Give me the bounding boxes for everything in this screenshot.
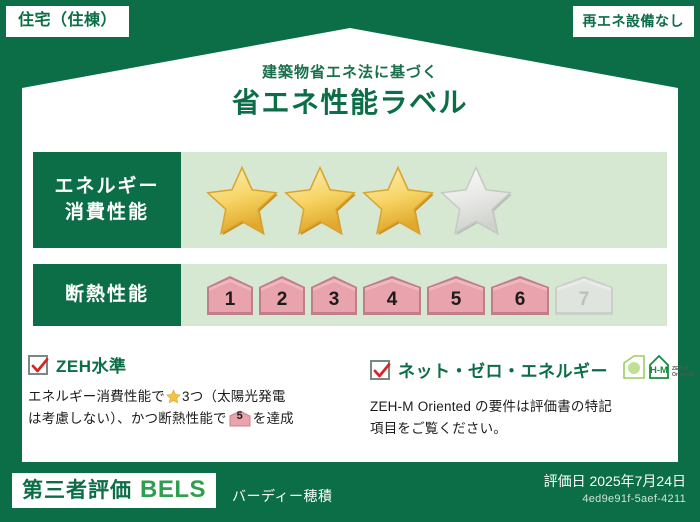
tag-building-type: 住宅（住棟）	[6, 6, 129, 37]
footer-meta: 評価日 2025年7月24日 4ed9e91f-5aef-4211	[544, 472, 686, 505]
insulation-level-marker: 6	[489, 273, 551, 317]
insulation-level-value: 1	[205, 289, 255, 311]
insulation-level-scale: 1234567	[189, 273, 615, 317]
insulation-level-marker: 3	[309, 273, 359, 317]
zeh-standard-block: ZEH水準 エネルギー消費性能で3つ（太陽光発電 は考慮しない）、かつ断熱性能で…	[28, 352, 358, 456]
insulation-level-value: 7	[553, 289, 615, 311]
info-section: ZEH水準 エネルギー消費性能で3つ（太陽光発電 は考慮しない）、かつ断熱性能で…	[0, 352, 700, 456]
net-zero-desc-line2: 項目をご覧ください。	[370, 421, 507, 436]
zeh-standard-title: ZEH水準	[56, 352, 127, 377]
insulation-level-value: 6	[489, 289, 551, 311]
net-zero-checkbox[interactable]	[370, 360, 390, 380]
zeh-m-oriented-logo: H-M ZEH-M Oriented	[620, 352, 696, 387]
star-icon-filled	[283, 164, 357, 236]
check-icon	[31, 357, 49, 375]
insulation-level-marker: 2	[257, 273, 307, 317]
check-icon	[373, 362, 391, 380]
insulation-level-badge-value: 5	[229, 408, 251, 426]
energy-label-line1: エネルギー	[54, 174, 159, 200]
insulation-level-marker: 4	[361, 273, 423, 317]
tag-renewable-equipment: 再エネ設備なし	[573, 6, 695, 37]
net-zero-desc-line1: ZEH-M Oriented の要件は評価書の特記	[370, 399, 612, 414]
footer: 第三者評価 BELS バーディー穂積 評価日 2025年7月24日 4ed9e9…	[0, 464, 700, 522]
star-icon-inline	[166, 389, 181, 404]
insulation-level-value: 2	[257, 289, 307, 311]
svg-text:H-M: H-M	[650, 365, 668, 376]
insulation-label: 断熱性能	[65, 282, 149, 308]
evaluation-id: 4ed9e91f-5aef-4211	[544, 493, 686, 505]
building-name: バーディー穂積	[232, 486, 333, 506]
net-zero-energy-block: ネット・ゼロ・エネルギー H-M ZEH-M Oriented ZEH-M Or…	[370, 352, 700, 456]
energy-performance-value	[181, 152, 667, 248]
svg-text:Oriented: Oriented	[672, 372, 693, 378]
bels-label-jp: 第三者評価	[22, 480, 132, 501]
zeh-desc-line2-pre: は考慮しない）、かつ断熱性能で	[28, 411, 227, 426]
energy-performance-row: エネルギー 消費性能	[33, 152, 667, 248]
insulation-level-value: 3	[309, 289, 359, 311]
net-zero-title: ネット・ゼロ・エネルギー	[398, 357, 608, 382]
title-subtitle: 建築物省エネ法に基づく	[0, 64, 700, 82]
page-title: 建築物省エネ法に基づく 省エネ性能ラベル	[0, 64, 700, 121]
insulation-level-value: 4	[361, 289, 423, 311]
zeh-desc-line2-post: を達成	[253, 411, 294, 426]
insulation-performance-value: 1234567	[181, 264, 667, 326]
evaluation-date: 評価日 2025年7月24日	[544, 472, 686, 490]
star-rating	[189, 164, 513, 236]
net-zero-heading-line: ネット・ゼロ・エネルギー H-M ZEH-M Oriented	[370, 352, 700, 387]
zeh-standard-heading-line: ZEH水準	[28, 352, 358, 377]
star-icon-filled	[205, 164, 279, 236]
insulation-level-marker: 1	[205, 273, 255, 317]
zeh-standard-checkbox[interactable]	[28, 355, 48, 375]
insulation-performance-row: 断熱性能 1234567	[33, 264, 667, 326]
insulation-performance-label: 断熱性能	[33, 264, 181, 326]
star-icon-filled	[361, 164, 435, 236]
energy-label-line2: 消費性能	[65, 200, 149, 226]
energy-performance-label: エネルギー 消費性能	[33, 152, 181, 248]
title-main: 省エネ性能ラベル	[0, 85, 700, 121]
star-icon-empty	[439, 164, 513, 236]
net-zero-description: ZEH-M Oriented の要件は評価書の特記 項目をご覧ください。	[370, 396, 700, 440]
insulation-level-value: 5	[425, 289, 487, 311]
zeh-desc-star-count: 3つ（太陽光発電	[182, 389, 286, 404]
insulation-level-marker: 5	[425, 273, 487, 317]
bels-label-en: BELS	[140, 478, 206, 502]
zeh-desc-part1: エネルギー消費性能で	[28, 389, 165, 404]
zeh-standard-description: エネルギー消費性能で3つ（太陽光発電 は考慮しない）、かつ断熱性能で5を達成	[28, 386, 358, 430]
insulation-level-marker: 7	[553, 273, 615, 317]
bels-certification-badge: 第三者評価 BELS	[12, 473, 216, 508]
insulation-level-badge-inline: 5	[229, 410, 251, 427]
